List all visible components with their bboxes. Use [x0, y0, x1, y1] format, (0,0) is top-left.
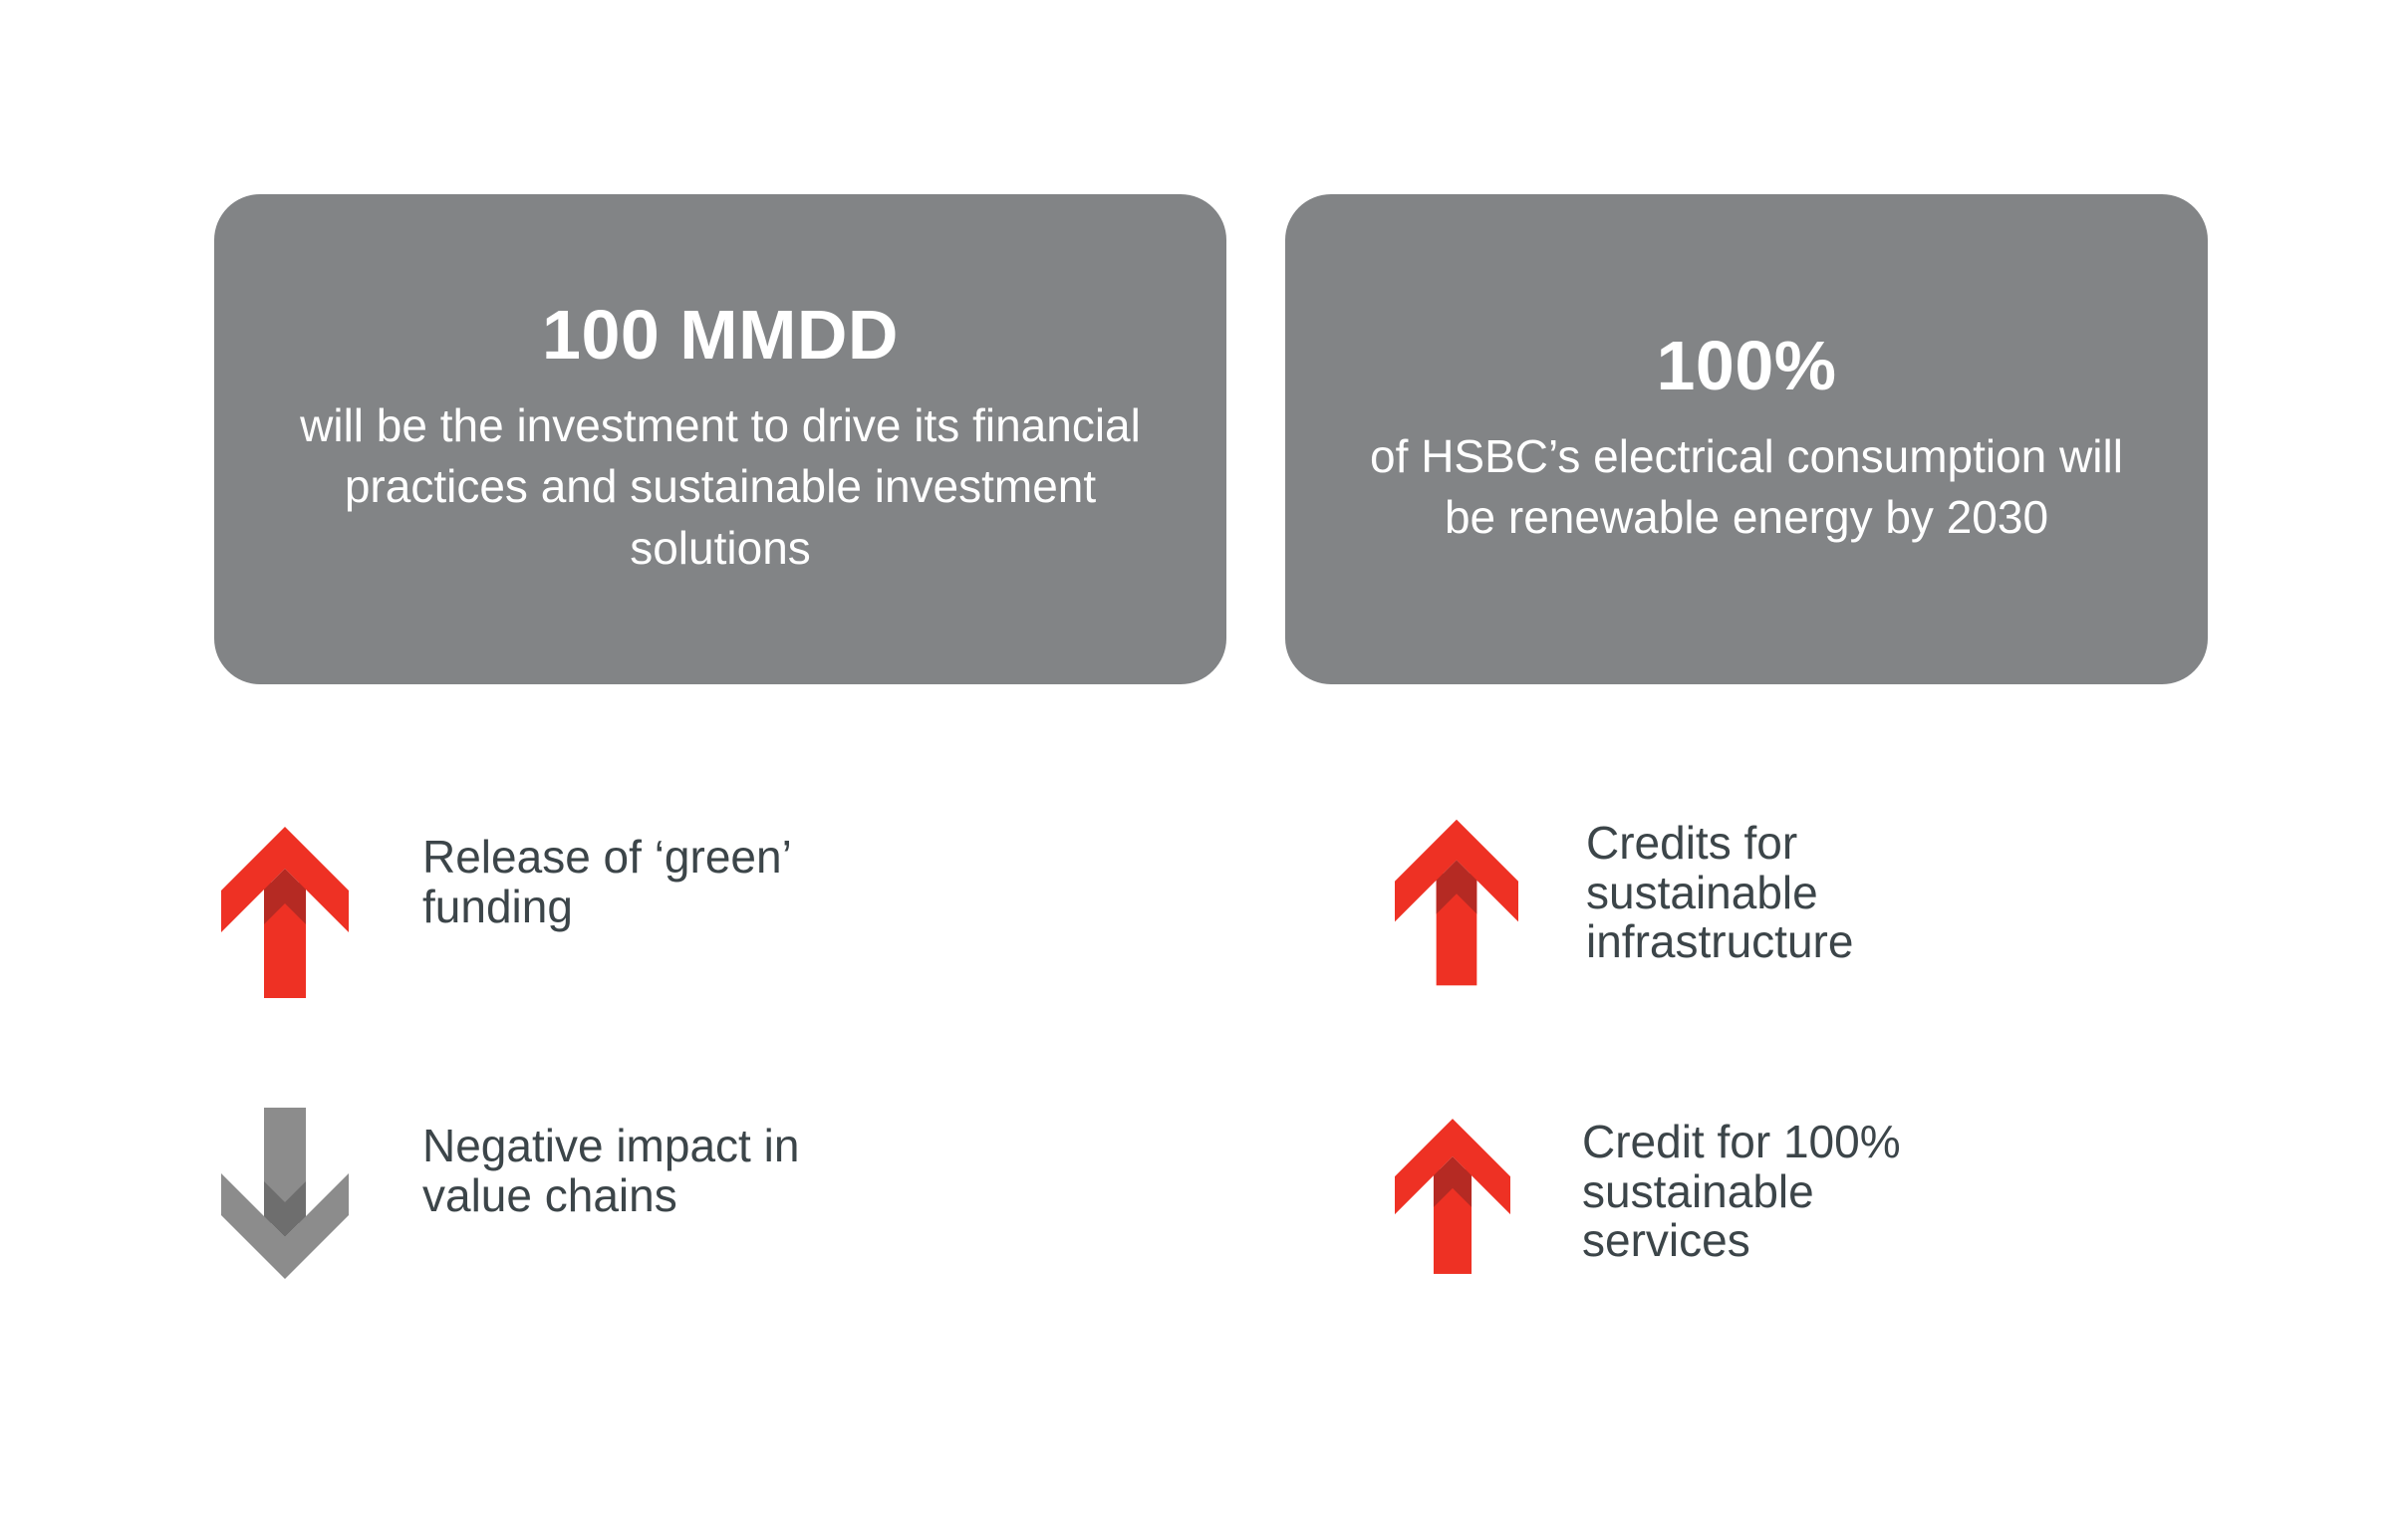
stat-description: of HSBC’s electrical consumption will be… [1353, 426, 2140, 548]
point-item-negative-impact: Negative impact in value chains [221, 1108, 799, 1279]
stat-card-investment: 100 MMDD will be the investment to drive… [214, 194, 1226, 684]
point-item-sustainable-infrastructure: Credits for sustainable infrastructure [1395, 819, 1853, 986]
point-label: Credit for 100% sustainable services [1582, 1118, 1901, 1266]
point-label: Credits for sustainable infrastructure [1586, 819, 1853, 967]
stat-value: 100 MMDD [542, 300, 899, 370]
point-label: Negative impact in value chains [422, 1122, 799, 1220]
point-item-sustainable-services: Credit for 100% sustainable services [1395, 1118, 1901, 1275]
point-label: Release of ‘green’ funding [422, 833, 792, 931]
arrow-down-icon [221, 1108, 349, 1279]
point-item-green-funding: Release of ‘green’ funding [221, 827, 792, 998]
arrow-up-icon [1395, 819, 1518, 986]
stat-description: will be the investment to drive its fina… [292, 395, 1149, 579]
stat-value: 100% [1656, 331, 1836, 400]
arrow-up-icon [1395, 1118, 1510, 1275]
infographic-canvas: 100 MMDD will be the investment to drive… [0, 0, 2408, 1523]
stat-card-renewable: 100% of HSBC’s electrical consumption wi… [1285, 194, 2208, 684]
arrow-up-icon [221, 827, 349, 998]
